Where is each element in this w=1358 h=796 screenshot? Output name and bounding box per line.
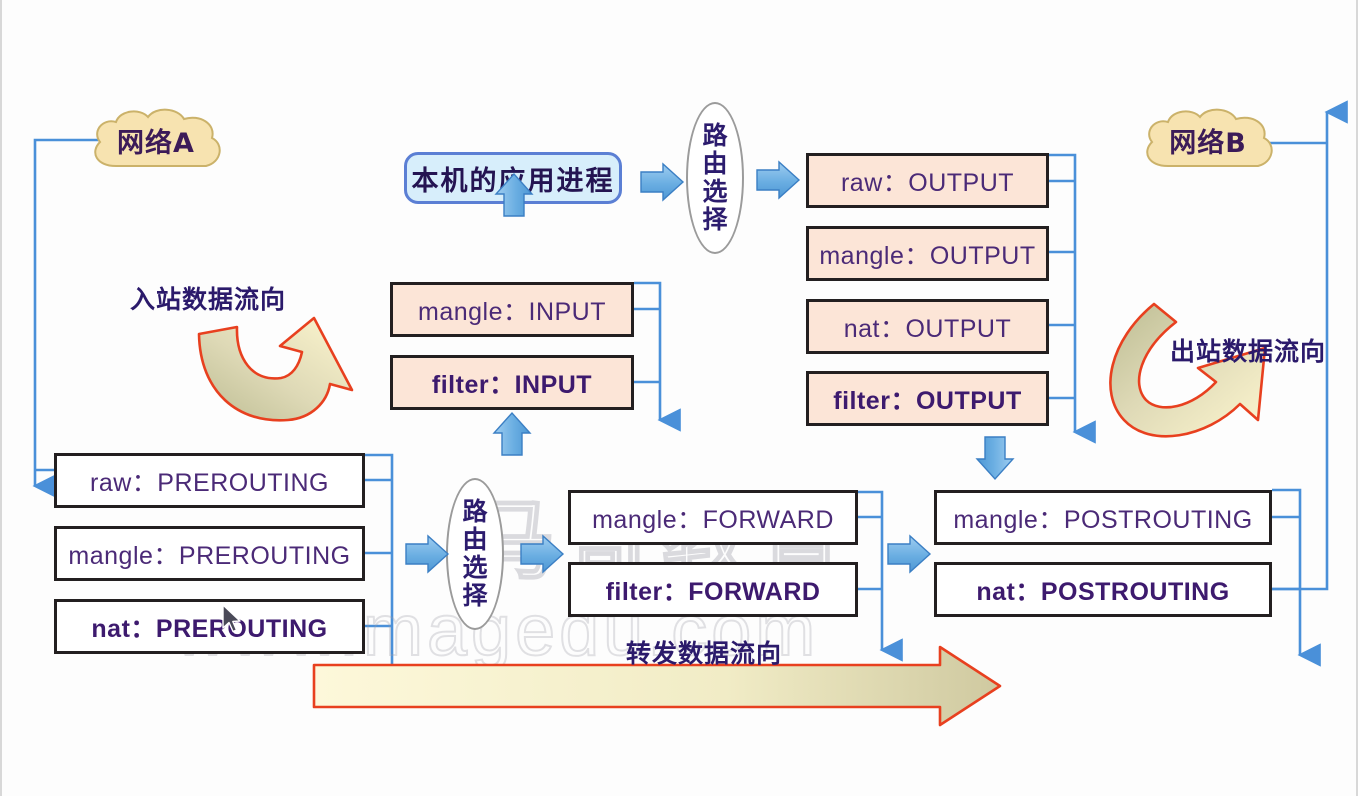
mouse-cursor	[222, 604, 244, 636]
flow-arrows-layer	[0, 0, 1358, 796]
inbound-flow-label-text: 入站数据流向	[130, 285, 286, 314]
outbound-flow-label: 出站数据流向	[1170, 332, 1326, 368]
forward-flow-label: 转发数据流向	[626, 634, 782, 670]
forward-flow-label-text: 转发数据流向	[626, 639, 782, 668]
inbound-flow-arrow	[199, 318, 352, 420]
diagram-canvas: 网络A 网络B 本机的应用进程 路 由 选 择 路 由 选 择 raw：OUTP…	[0, 0, 1358, 796]
outbound-flow-arrow	[1110, 304, 1265, 436]
inbound-flow-label: 入站数据流向	[130, 280, 286, 316]
outbound-flow-label-text: 出站数据流向	[1170, 337, 1326, 366]
